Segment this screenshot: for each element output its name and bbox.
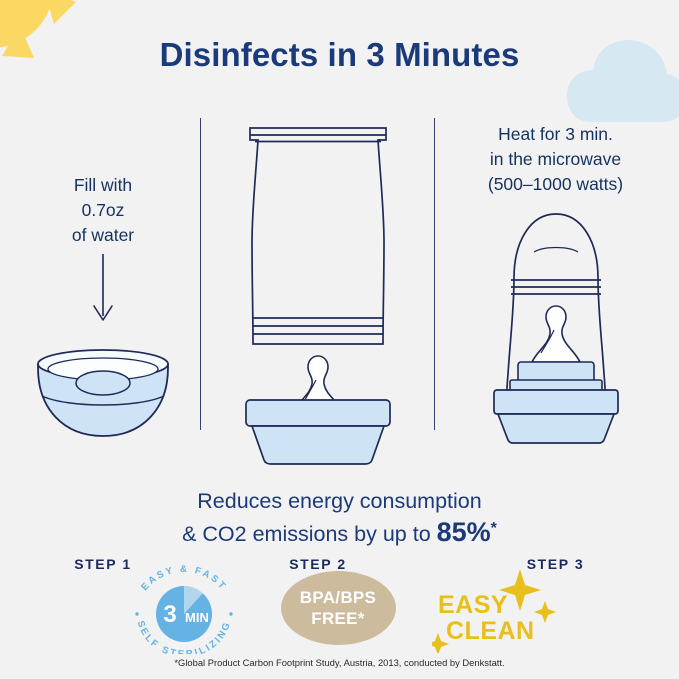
badge-row: EASY & FAST SELF STERILIZING 3 MIN BPA/B… xyxy=(0,563,679,653)
badge-3min-unit: MIN xyxy=(185,610,209,625)
step-3-caption-line-1: Heat for 3 min. xyxy=(438,122,673,147)
badge-3min: EASY & FAST SELF STERILIZING 3 MIN xyxy=(123,562,245,654)
claim-line-2: & CO2 emissions by up to 85%* xyxy=(0,515,679,548)
claim-line-2-prefix: & CO2 emissions by up to xyxy=(182,522,437,546)
page-title: Disinfects in 3 Minutes xyxy=(0,36,679,74)
step-1-caption: Fill with 0.7oz of water xyxy=(8,173,198,248)
inner-teat xyxy=(532,306,580,362)
badge-easy-clean-line-2: CLEAN xyxy=(446,617,535,645)
step-3-column: Heat for 3 min. in the microwave (500–10… xyxy=(438,118,673,463)
step-3-illustration xyxy=(438,192,673,444)
badge-easy-clean-line-1: EASY xyxy=(438,591,508,619)
badge-easy-clean: EASY CLEAN xyxy=(432,563,557,653)
claim-asterisk: * xyxy=(491,520,497,537)
step-2-illustration xyxy=(204,112,432,442)
bowl-with-water-illustration xyxy=(38,350,168,436)
badge-3min-number: 3 xyxy=(163,601,176,628)
column-divider-2 xyxy=(434,118,435,430)
energy-claim: Reduces energy consumption & CO2 emissio… xyxy=(0,487,679,548)
footnote: *Global Product Carbon Footprint Study, … xyxy=(0,657,679,668)
step-2-column: STEP 2 xyxy=(204,118,432,463)
step-1-caption-line-3: of water xyxy=(8,223,198,248)
claim-percentage: 85% xyxy=(437,517,491,547)
step-1-column: Fill with 0.7oz of water xyxy=(8,118,198,463)
column-divider-1 xyxy=(200,118,201,430)
bottle-body-outline xyxy=(250,128,386,344)
step-1-illustration xyxy=(8,250,198,440)
step-3-caption: Heat for 3 min. in the microwave (500–10… xyxy=(438,122,673,197)
badge-bpa-line-2: FREE* xyxy=(311,608,364,629)
badge-bpa-line-1: BPA/BPS xyxy=(300,587,376,608)
step-1-caption-line-2: 0.7oz xyxy=(8,198,198,223)
badge-bpa-oval: BPA/BPS FREE* xyxy=(281,571,396,645)
badge-bpa-free: BPA/BPS FREE* xyxy=(281,571,396,645)
step-1-caption-line-1: Fill with xyxy=(8,173,198,198)
base-assembly xyxy=(494,362,618,443)
step-2-base-illustration xyxy=(204,396,432,468)
bottle-base-lid xyxy=(246,400,390,464)
infographic-canvas: Disinfects in 3 Minutes Fill with 0.7oz … xyxy=(0,0,679,679)
down-arrow-icon xyxy=(94,254,112,320)
step-3-caption-line-2: in the microwave xyxy=(438,147,673,172)
claim-line-1: Reduces energy consumption xyxy=(0,487,679,515)
